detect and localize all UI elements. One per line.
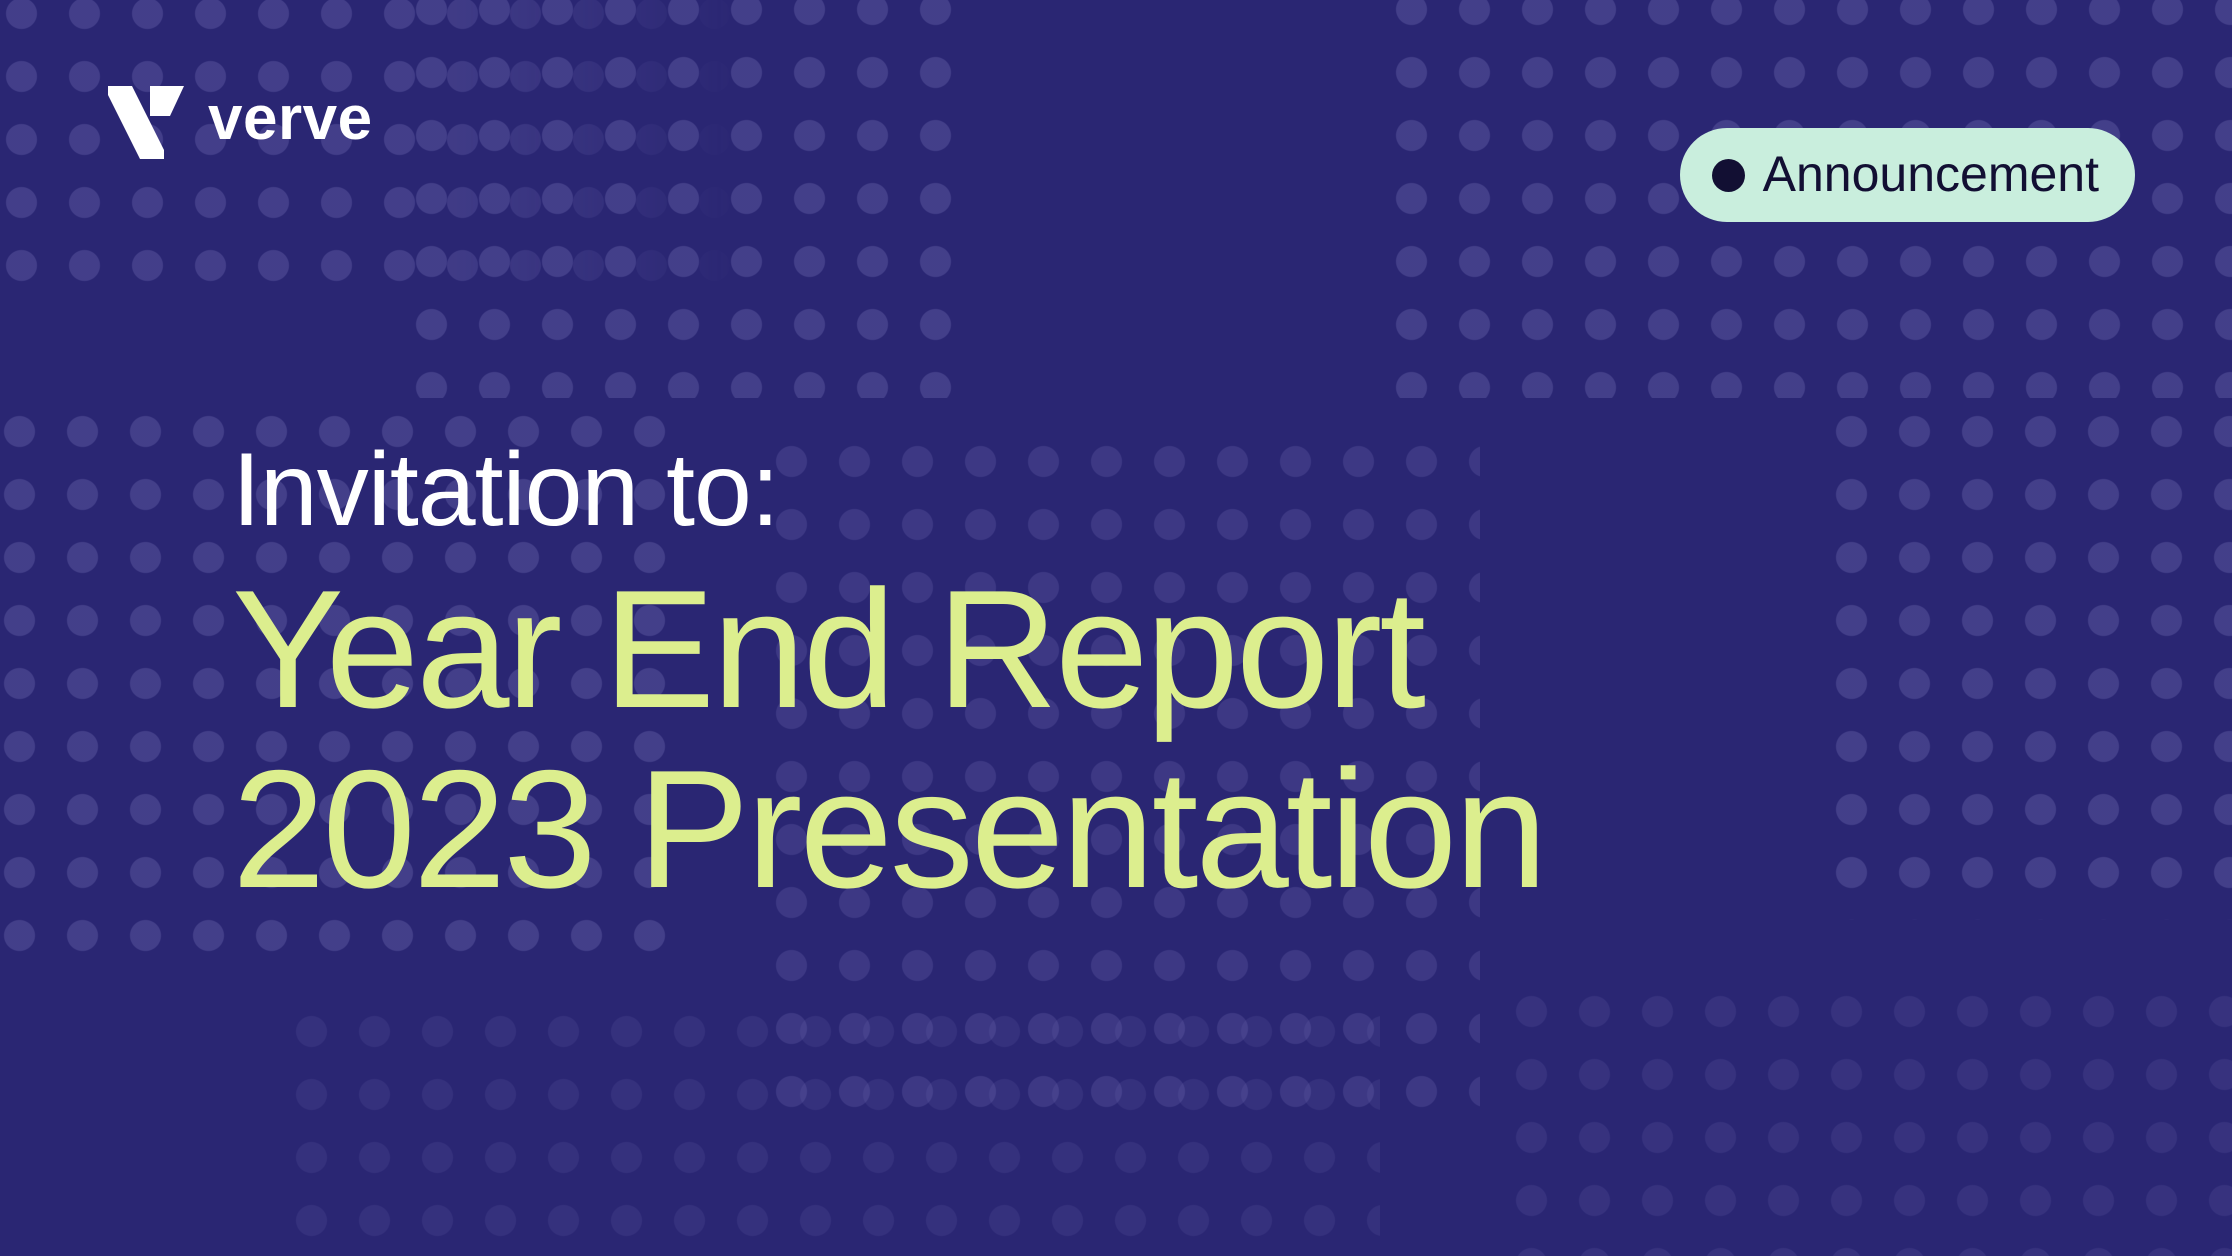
page-title: Year End Report 2023 Presentation <box>232 560 2132 920</box>
headline-block: Invitation to: Year End Report 2023 Pres… <box>232 432 2132 920</box>
status-badge[interactable]: Announcement <box>1680 128 2135 222</box>
verve-v-mark-icon <box>108 73 186 159</box>
title-line-1: Year End Report <box>232 560 2132 740</box>
dot-pattern-top-center <box>400 0 960 398</box>
dot-pattern-bottom-right <box>1500 980 2232 1256</box>
dot-pattern-bottom-center <box>280 1000 1380 1256</box>
status-badge-label: Announcement <box>1763 149 2099 199</box>
title-line-2: 2023 Presentation <box>232 740 2132 920</box>
brand-logo[interactable]: verve <box>108 70 373 162</box>
eyebrow-text: Invitation to: <box>232 432 2132 548</box>
brand-wordmark: verve <box>208 88 373 150</box>
badge-dot-icon <box>1712 159 1745 192</box>
announcement-slide: verve Announcement Invitation to: Year E… <box>0 0 2232 1256</box>
